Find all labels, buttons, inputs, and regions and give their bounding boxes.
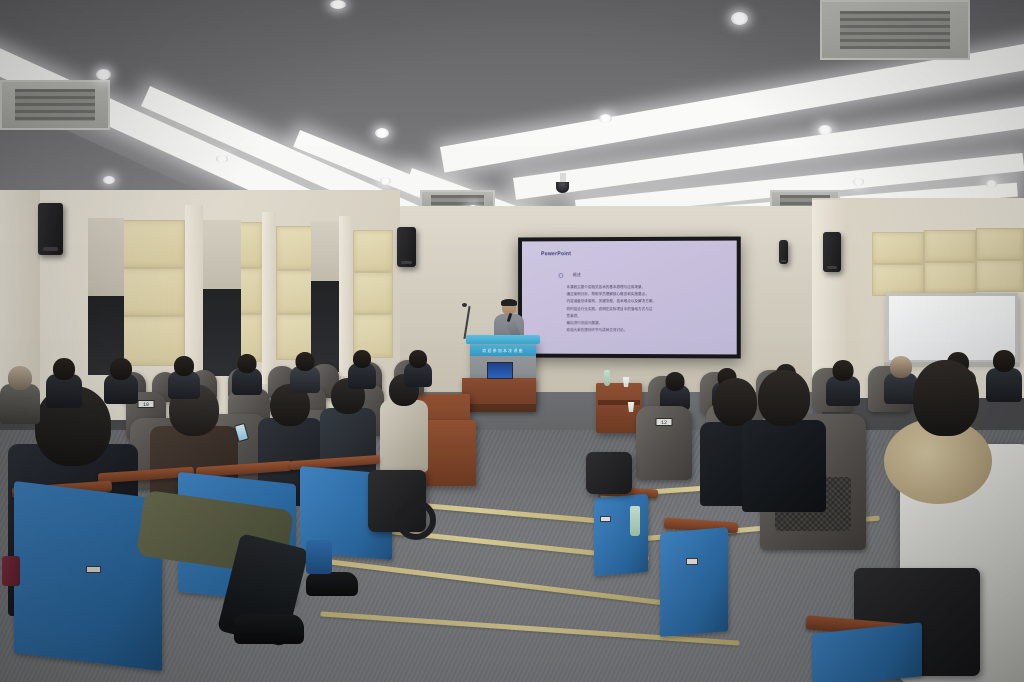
wall-pillar — [262, 212, 276, 384]
thermos-cup[interactable] — [2, 556, 20, 586]
audience-member — [906, 360, 986, 452]
audience-head — [174, 356, 194, 376]
audience-torso — [0, 384, 40, 424]
downlight-icon — [96, 69, 111, 80]
projection-screen[interactable]: PowerPoint 概述 本课程主要介绍相关技术的基本原理与应用场景。 通过案… — [518, 236, 741, 358]
audience-torso — [986, 368, 1022, 402]
ac-vent-icon — [0, 80, 110, 130]
audience-member — [986, 350, 1022, 400]
audience-head — [296, 352, 315, 371]
downlight-icon — [330, 0, 346, 9]
audience-head — [913, 360, 979, 436]
lecture-hall-photo: PowerPoint 概述 本课程主要介绍相关技术的基本原理与应用场景。 通过案… — [0, 0, 1024, 682]
slide-line: 通过案例分析，帮助学员理解核心概念和实施要点。 — [567, 291, 718, 298]
slide-bullet-label: 概述 — [573, 272, 581, 278]
downlight-icon — [853, 178, 864, 186]
audience-member — [404, 350, 432, 386]
audience-member — [742, 370, 826, 510]
downlight-icon — [216, 155, 228, 163]
slide-line: 内容涵盖总体架构、关键流程、技术难点以及解决方案。 — [567, 298, 718, 305]
acoustic-panel — [872, 264, 924, 296]
audience-head — [110, 358, 132, 380]
downlight-icon — [375, 128, 389, 138]
seat-number-plate — [686, 558, 698, 565]
front-desk-shadow — [462, 404, 536, 412]
acoustic-panel — [872, 232, 924, 264]
audience-member — [46, 358, 82, 406]
water-bottle[interactable] — [630, 506, 640, 536]
downlight-icon — [103, 176, 115, 184]
podium-banner: 欢迎参加本次讲座 — [470, 345, 536, 356]
downlight-icon — [818, 125, 832, 135]
audience-head — [238, 354, 257, 373]
audience-head — [53, 358, 75, 380]
podium-top — [466, 335, 540, 344]
seat[interactable]: 12 — [636, 406, 692, 480]
wall-speaker-icon — [823, 232, 841, 272]
audience-member — [0, 366, 40, 422]
seat-number-plate — [600, 516, 611, 522]
seat-side-panel[interactable] — [812, 622, 922, 682]
ac-vent-icon — [820, 0, 970, 60]
downlight-icon — [380, 177, 391, 185]
shoe — [306, 572, 358, 596]
projection-screen-surface: PowerPoint 概述 本课程主要介绍相关技术的基本原理与应用场景。 通过案… — [522, 241, 737, 355]
slide-line: 欢迎大家在提问环节与讲师交流讨论。 — [567, 327, 718, 335]
backpack[interactable] — [586, 452, 632, 494]
wall-speaker-icon — [38, 203, 63, 255]
downlight-icon — [599, 114, 612, 123]
acoustic-panel — [924, 262, 976, 294]
window-blind[interactable] — [311, 222, 339, 281]
podium-banner-text: 欢迎参加本次讲座 — [470, 345, 536, 356]
slide-line: 同时结合行业实践，说明在实际项目中的落地方式与注 — [567, 306, 718, 313]
audience-member — [232, 354, 262, 394]
acoustic-panel — [353, 272, 393, 314]
water-bottle[interactable] — [604, 370, 610, 386]
audience-head — [353, 350, 371, 368]
audience-head — [758, 370, 810, 426]
audience-head — [666, 372, 685, 391]
audience-member — [290, 352, 320, 392]
seat-side-panel[interactable] — [14, 481, 162, 671]
slide-bullet-icon — [558, 273, 563, 278]
audience-member — [168, 356, 200, 398]
downlight-icon — [731, 12, 748, 25]
shoe — [234, 614, 304, 644]
presenter-hair — [501, 299, 517, 306]
audience-member — [348, 350, 376, 388]
ceiling-camera-icon — [556, 182, 569, 193]
audience-head — [409, 350, 427, 368]
audience-torso — [742, 420, 826, 512]
slide-title: PowerPoint — [541, 251, 571, 257]
audience-member — [826, 360, 860, 404]
seat-number-plate — [86, 566, 101, 573]
acoustic-panel — [976, 228, 1024, 260]
audience-head — [993, 350, 1015, 372]
slide-line: 本课程主要介绍相关技术的基本原理与应用场景。 — [567, 284, 718, 291]
bag-handle — [396, 500, 436, 540]
audience-member — [660, 372, 690, 408]
audience-head — [833, 360, 854, 381]
audience-torso — [380, 400, 428, 472]
wall-speaker-icon — [397, 227, 416, 267]
audience-head — [8, 366, 32, 390]
audience-member — [104, 358, 138, 402]
seat-side-panel[interactable] — [660, 527, 728, 637]
slide-body: 本课程主要介绍相关技术的基本原理与应用场景。 通过案例分析，帮助学员理解核心概念… — [567, 284, 718, 335]
acoustic-panel — [976, 260, 1024, 292]
wall-speaker-icon — [779, 240, 788, 264]
window-blind[interactable] — [88, 218, 124, 296]
acoustic-panel — [353, 230, 393, 272]
seat-number-plate: 12 — [656, 418, 673, 426]
window-blind[interactable] — [203, 220, 241, 289]
seat-side-panel[interactable] — [594, 494, 648, 577]
audience-member — [380, 374, 428, 470]
laptop[interactable] — [487, 362, 513, 379]
microphone-head-icon — [462, 303, 467, 307]
downlight-icon — [986, 180, 997, 188]
sock — [306, 540, 332, 574]
acoustic-panel — [924, 230, 976, 262]
